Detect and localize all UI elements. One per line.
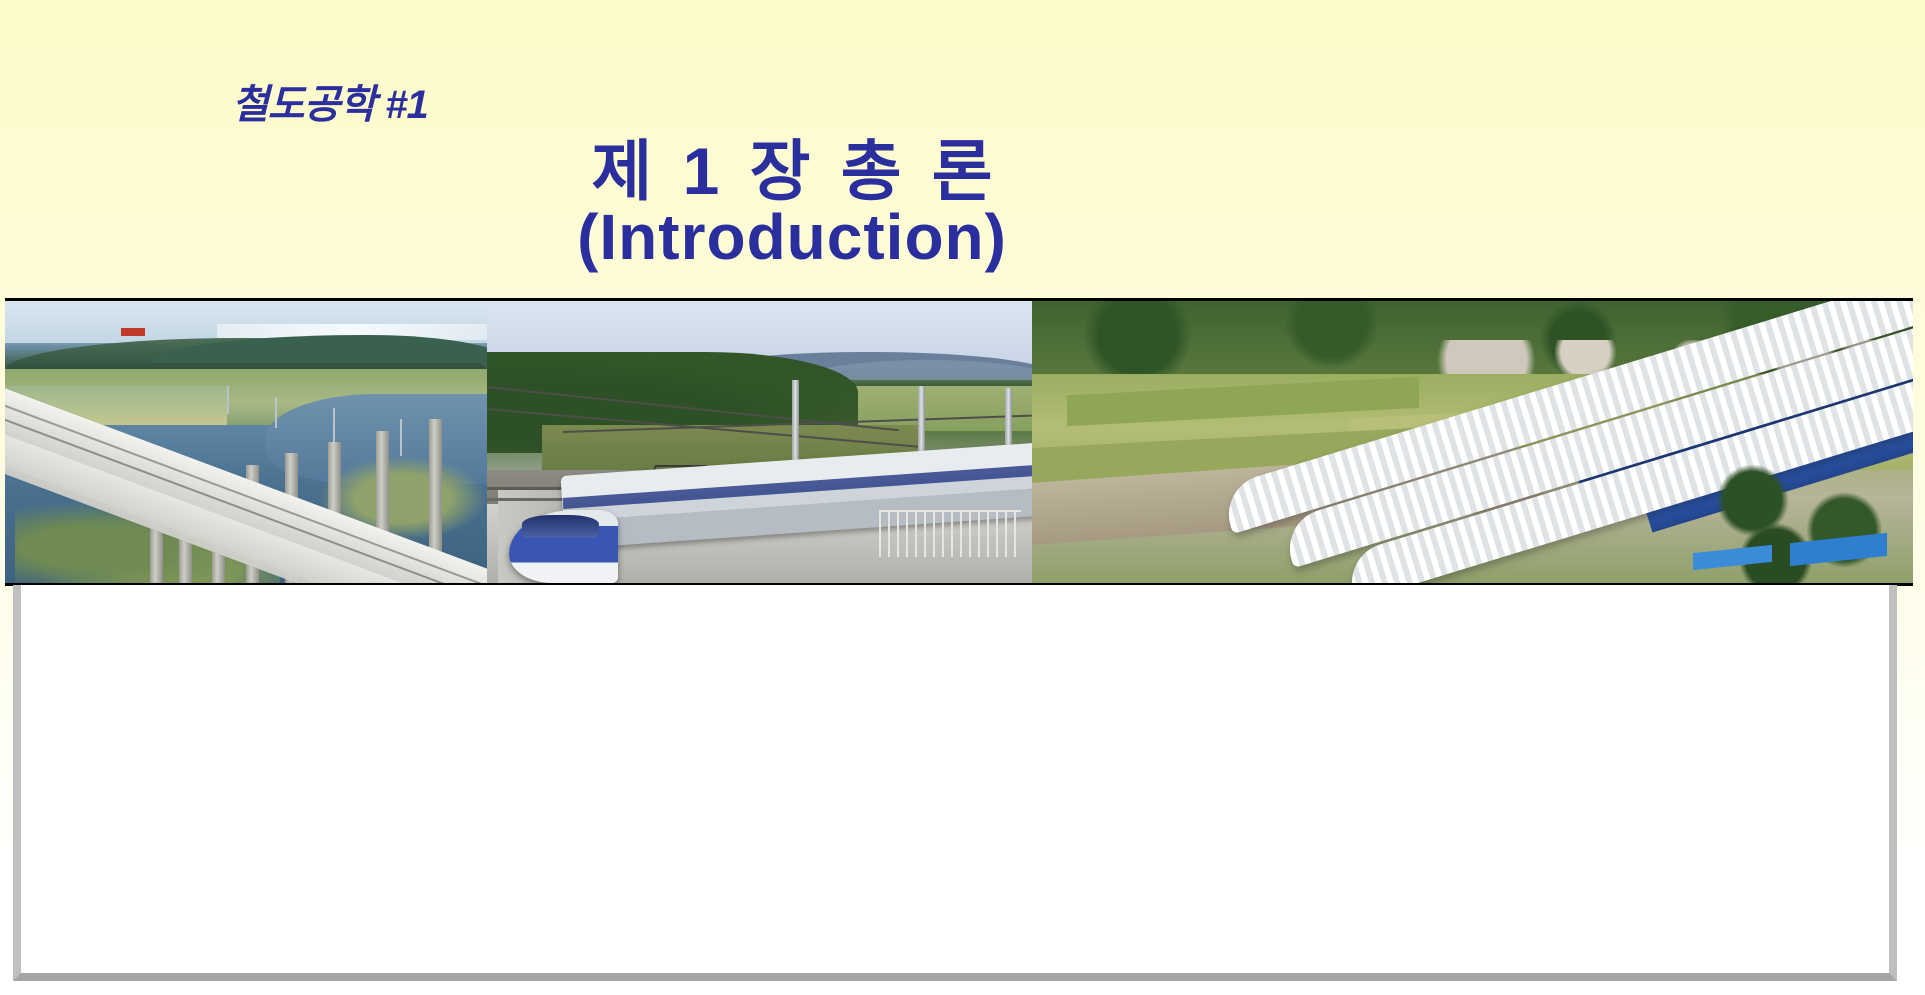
photo-ktx-high-speed-train: [487, 301, 1032, 583]
photo-railway-bridge-aerial: [5, 301, 487, 583]
page-subtitle: (Introduction): [0, 200, 1584, 274]
photo-strip: [5, 298, 1913, 586]
photo-railway-station-aerial: [1032, 301, 1913, 583]
catenary-mast: [227, 386, 229, 414]
slide-canvas: 철도공학 #1 제 1 장 총 론 (Introduction): [0, 0, 1925, 995]
viaduct-railing: [879, 510, 1021, 557]
catenary-mast: [275, 397, 277, 428]
content-area[interactable]: [29, 585, 1881, 963]
content-panel: [13, 585, 1897, 981]
catenary-mast: [333, 408, 335, 442]
catenary-mast: [400, 419, 402, 456]
train-windshield: [522, 515, 598, 538]
